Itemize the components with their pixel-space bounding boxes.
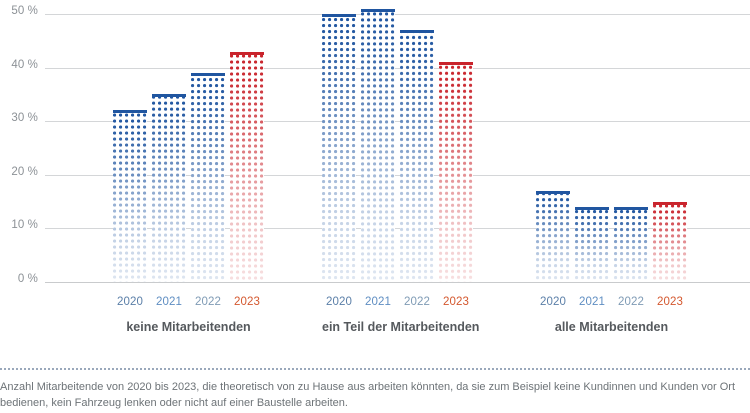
bar[interactable] bbox=[191, 73, 225, 282]
x-axis-year-label: 2022 bbox=[191, 296, 225, 308]
bar[interactable] bbox=[653, 202, 687, 282]
y-axis-tick-label: 30 % bbox=[0, 112, 38, 124]
footnote: Anzahl Mitarbeitende von 2020 bis 2023, … bbox=[0, 368, 750, 412]
bar-column[interactable] bbox=[152, 0, 186, 282]
bar-group-label: keine Mitarbeitenden bbox=[113, 320, 264, 334]
x-axis-year-label: 2021 bbox=[361, 296, 395, 308]
bar-column[interactable] bbox=[536, 0, 570, 282]
bar[interactable] bbox=[361, 9, 395, 282]
x-axis-year-label: 2023 bbox=[230, 296, 264, 308]
bar-group: 2020202120222023ein Teil der Mitarbeiten… bbox=[322, 0, 473, 340]
year-label-row: 2020202120222023 bbox=[322, 296, 473, 308]
year-label-row: 2020202120222023 bbox=[113, 296, 264, 308]
bar-column[interactable] bbox=[113, 0, 147, 282]
footnote-divider bbox=[0, 368, 750, 370]
y-axis-tick-label: 10 % bbox=[0, 219, 38, 231]
bar[interactable] bbox=[575, 207, 609, 282]
bar[interactable] bbox=[614, 207, 648, 282]
x-axis-year-label: 2020 bbox=[113, 296, 147, 308]
bar[interactable] bbox=[439, 62, 473, 282]
y-axis-tick-label: 0 % bbox=[0, 273, 38, 285]
bar-column[interactable] bbox=[439, 0, 473, 282]
y-axis-tick-label: 50 % bbox=[0, 5, 38, 17]
y-axis-tick-label: 20 % bbox=[0, 166, 38, 178]
bar-column[interactable] bbox=[322, 0, 356, 282]
bar[interactable] bbox=[400, 30, 434, 282]
bars-wrap bbox=[536, 0, 687, 282]
bar[interactable] bbox=[113, 110, 147, 282]
bar-column[interactable] bbox=[614, 0, 648, 282]
bar-groups: 2020202120222023keine Mitarbeitenden2020… bbox=[45, 0, 750, 340]
x-axis-year-label: 2022 bbox=[400, 296, 434, 308]
bars-wrap bbox=[113, 0, 264, 282]
x-axis-year-label: 2023 bbox=[439, 296, 473, 308]
bar-column[interactable] bbox=[191, 0, 225, 282]
bar[interactable] bbox=[322, 14, 356, 282]
bar[interactable] bbox=[152, 94, 186, 282]
x-axis-year-label: 2020 bbox=[536, 296, 570, 308]
x-axis-year-label: 2020 bbox=[322, 296, 356, 308]
bar-column[interactable] bbox=[400, 0, 434, 282]
bar-column[interactable] bbox=[361, 0, 395, 282]
footnote-text: Anzahl Mitarbeitende von 2020 bis 2023, … bbox=[0, 379, 746, 412]
x-axis-year-label: 2023 bbox=[653, 296, 687, 308]
plot-area: 0 %10 %20 %30 %40 %50 % 2020202120222023… bbox=[0, 0, 750, 340]
y-axis-tick-label: 40 % bbox=[0, 59, 38, 71]
grouped-bar-chart: 0 %10 %20 %30 %40 %50 % 2020202120222023… bbox=[0, 0, 750, 413]
year-label-row: 2020202120222023 bbox=[536, 296, 687, 308]
bar[interactable] bbox=[536, 191, 570, 282]
bar-group: 2020202120222023alle Mitarbeitenden bbox=[536, 0, 687, 340]
bar-column[interactable] bbox=[653, 0, 687, 282]
bar-column[interactable] bbox=[575, 0, 609, 282]
x-axis-year-label: 2021 bbox=[575, 296, 609, 308]
bar-column[interactable] bbox=[230, 0, 264, 282]
bar-group-label: alle Mitarbeitenden bbox=[536, 320, 687, 334]
x-axis-year-label: 2021 bbox=[152, 296, 186, 308]
bar-group-label: ein Teil der Mitarbeitenden bbox=[322, 320, 473, 334]
bar-group: 2020202120222023keine Mitarbeitenden bbox=[113, 0, 264, 340]
bar[interactable] bbox=[230, 52, 264, 282]
x-axis-year-label: 2022 bbox=[614, 296, 648, 308]
bars-wrap bbox=[322, 0, 473, 282]
